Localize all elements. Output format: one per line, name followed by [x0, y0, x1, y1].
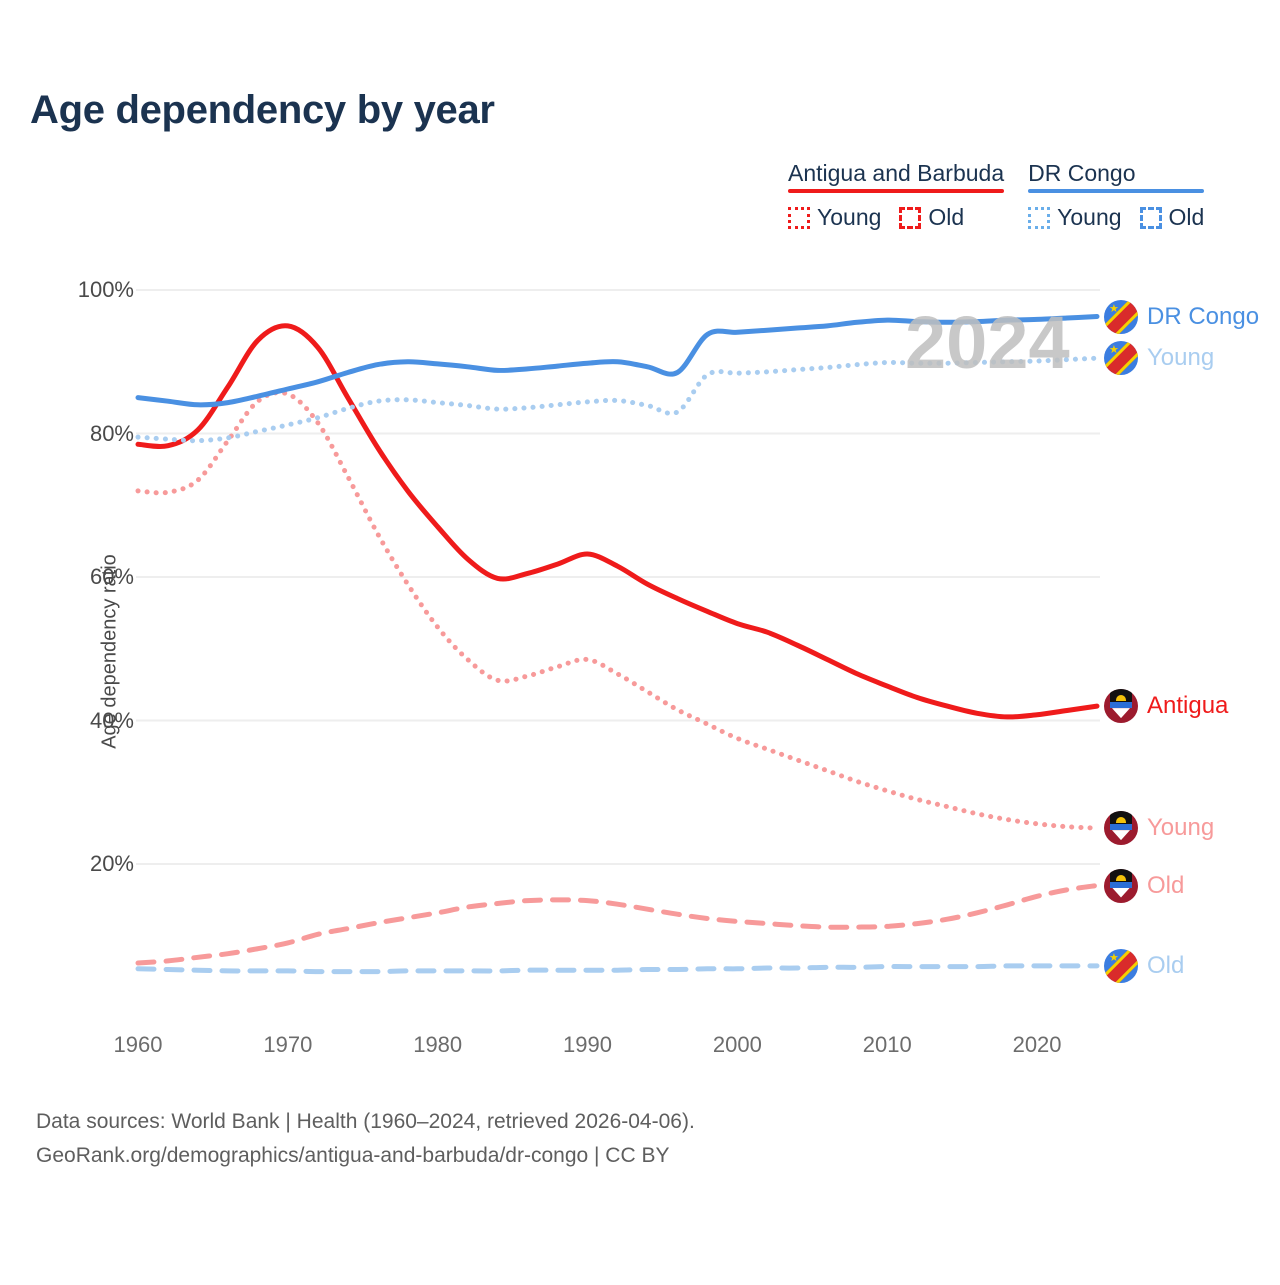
legend-item-antigua-young[interactable]: Young — [788, 204, 881, 231]
legend-group-drcongo[interactable]: DR Congo Young Old — [1028, 160, 1204, 231]
x-axis-tick: 1990 — [538, 1032, 638, 1058]
legend-item-antigua-old[interactable]: Old — [899, 204, 964, 231]
x-axis-tick: 2020 — [987, 1032, 1087, 1058]
page-title: Age dependency by year — [30, 88, 495, 133]
series-end-label[interactable]: ★DR Congo — [1104, 300, 1259, 334]
y-axis-tick: 80% — [44, 421, 134, 447]
y-axis-label: Age dependency ratio — [99, 502, 122, 802]
chart-legend: Antigua and Barbuda Young Old DR Congo — [788, 160, 1258, 231]
legend-item-drcongo-old[interactable]: Old — [1140, 204, 1205, 231]
legend-country-antigua: Antigua and Barbuda — [788, 160, 1004, 186]
legend-label-drcongo-old: Old — [1169, 204, 1205, 231]
footer-attribution: GeoRank.org/demographics/antigua-and-bar… — [36, 1139, 695, 1173]
series-end-label-text: Antigua — [1147, 692, 1228, 720]
x-axis-tick: 1970 — [238, 1032, 338, 1058]
series-line — [138, 886, 1097, 964]
chart-container: Age dependency by year Antigua and Barbu… — [0, 0, 1280, 1280]
legend-rule-drcongo — [1028, 189, 1204, 193]
flag-antigua-icon — [1104, 869, 1138, 903]
legend-swatch-dotted-icon — [788, 207, 810, 229]
series-end-label[interactable]: Old — [1104, 869, 1184, 903]
legend-group-antigua[interactable]: Antigua and Barbuda Young Old — [788, 160, 1004, 231]
x-axis-tick: 2000 — [687, 1032, 787, 1058]
series-end-label-text: Young — [1147, 344, 1214, 372]
y-axis-tick: 20% — [44, 851, 134, 877]
flag-antigua-icon — [1104, 689, 1138, 723]
series-line — [138, 966, 1097, 972]
legend-item-drcongo-young[interactable]: Young — [1028, 204, 1121, 231]
y-axis-tick: 100% — [44, 277, 134, 303]
series-end-label-text: Young — [1147, 814, 1214, 842]
x-axis-tick: 1960 — [88, 1032, 188, 1058]
series-end-label-text: Old — [1147, 872, 1184, 900]
footer-data-sources: Data sources: World Bank | Health (1960–… — [36, 1105, 695, 1139]
flag-dr-congo-icon: ★ — [1104, 300, 1138, 334]
series-end-label-text: Old — [1147, 952, 1184, 980]
series-line — [138, 393, 1097, 829]
legend-rule-antigua — [788, 189, 1004, 193]
legend-country-drcongo: DR Congo — [1028, 160, 1204, 186]
year-watermark: 2024 — [905, 300, 1070, 385]
legend-label-drcongo-young: Young — [1057, 204, 1121, 231]
flag-dr-congo-icon: ★ — [1104, 341, 1138, 375]
series-end-label[interactable]: ★Young — [1104, 341, 1214, 375]
legend-swatch-dashed-icon — [899, 207, 921, 229]
series-end-label-text: DR Congo — [1147, 303, 1259, 331]
legend-label-antigua-young: Young — [817, 204, 881, 231]
x-axis-tick: 2010 — [837, 1032, 937, 1058]
y-axis-tick: 60% — [44, 564, 134, 590]
legend-swatch-dashed-icon — [1140, 207, 1162, 229]
series-end-label[interactable]: Young — [1104, 811, 1214, 845]
legend-swatch-dotted-icon — [1028, 207, 1050, 229]
footer: Data sources: World Bank | Health (1960–… — [36, 1105, 695, 1173]
series-end-label[interactable]: ★Old — [1104, 949, 1184, 983]
y-axis-tick: 40% — [44, 708, 134, 734]
series-end-label[interactable]: Antigua — [1104, 689, 1228, 723]
legend-label-antigua-old: Old — [928, 204, 964, 231]
flag-dr-congo-icon: ★ — [1104, 949, 1138, 983]
x-axis-tick: 1980 — [388, 1032, 488, 1058]
flag-antigua-icon — [1104, 811, 1138, 845]
